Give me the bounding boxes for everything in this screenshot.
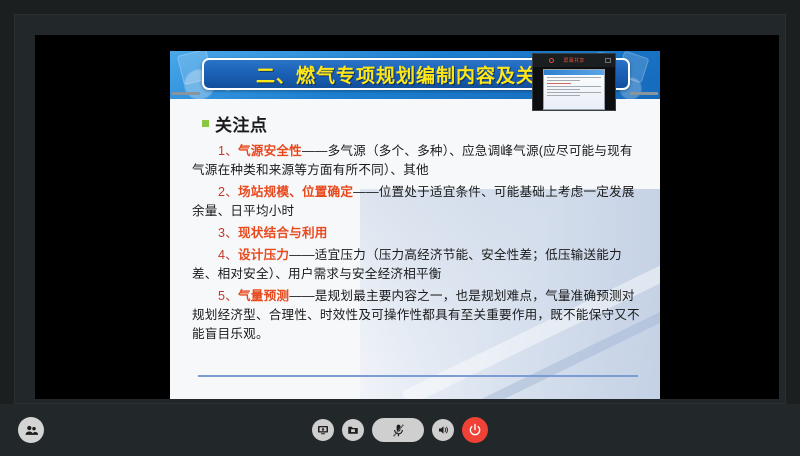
item-number: 1、 — [218, 144, 238, 158]
documents-button[interactable] — [342, 419, 364, 441]
slide-item: 2、场站规模、位置确定——位置处于适宜条件、可能基础上考虑一定发展余量、日平均小… — [192, 183, 642, 221]
speaker-button[interactable] — [432, 419, 454, 441]
video-conference-window: 二、燃气专项规划编制内容及关注点 关注点 1、气源安全性——多气源（多个、多种）… — [0, 0, 800, 456]
slide-item: 3、现状结合与利用 — [192, 224, 642, 243]
item-number: 3、 — [218, 226, 238, 240]
pip-text-line — [547, 95, 580, 97]
leave-button[interactable] — [462, 417, 488, 443]
item-dash: —— — [302, 144, 328, 158]
pip-document-preview — [543, 69, 605, 110]
participants-button[interactable] — [18, 417, 44, 443]
primary-controls — [312, 417, 488, 443]
stage-frame: 二、燃气专项规划编制内容及关注点 关注点 1、气源安全性——多气源（多个、多种）… — [14, 14, 786, 404]
power-icon — [468, 423, 482, 437]
pip-text-line — [547, 83, 571, 85]
item-keyword: 现状结合与利用 — [238, 226, 328, 240]
header-rule-right — [630, 92, 658, 95]
pip-titlebar: 屏幕共享 — [533, 54, 615, 67]
slide-item: 5、气量预测——是规划最主要内容之一，也是规划难点，气量准确预测对规划经济型、合… — [192, 287, 642, 344]
item-dash: —— — [353, 185, 379, 199]
pip-text-line — [547, 77, 601, 79]
slide-item: 1、气源安全性——多气源（多个、多种）、应急调峰气源(应尽可能与现有气源在种类和… — [192, 142, 642, 180]
microphone-button[interactable] — [372, 418, 424, 442]
item-keyword: 设计压力 — [238, 248, 289, 262]
pip-text-line — [547, 89, 580, 91]
pip-stage — [533, 67, 615, 111]
pip-restore-icon[interactable] — [605, 58, 611, 63]
square-bullet-icon — [202, 120, 209, 127]
folder-icon — [347, 424, 359, 436]
item-keyword: 场站规模、位置确定 — [238, 185, 353, 199]
slide-title: 二、燃气专项规划编制内容及关注点 — [256, 61, 576, 88]
item-number: 4、 — [218, 248, 238, 262]
record-dot-icon — [549, 58, 554, 63]
pip-title: 屏幕共享 — [563, 57, 584, 64]
header-rule-left — [172, 92, 200, 95]
people-icon — [24, 423, 39, 438]
meeting-control-bar — [0, 404, 800, 456]
video-canvas[interactable]: 二、燃气专项规划编制内容及关注点 关注点 1、气源安全性——多气源（多个、多种）… — [35, 35, 779, 399]
item-number: 5、 — [218, 289, 238, 303]
slide-item: 4、设计压力——适宜压力（压力高经济节能、安全性差；低压输送能力差、相对安全）、… — [192, 246, 642, 284]
pip-text-line — [547, 86, 601, 88]
pip-doc-header — [544, 70, 604, 75]
section-heading-row: 关注点 — [202, 111, 642, 136]
item-dash: —— — [289, 248, 315, 262]
microphone-muted-icon — [391, 423, 406, 438]
pip-text-line — [547, 92, 601, 94]
monitor-share-icon — [317, 424, 329, 436]
item-keyword: 气源安全性 — [238, 144, 302, 158]
item-dash: —— — [289, 289, 315, 303]
speaker-icon — [437, 424, 449, 436]
section-heading: 关注点 — [215, 111, 268, 136]
picture-in-picture-thumbnail[interactable]: 屏幕共享 — [532, 53, 616, 111]
pip-text-line — [547, 80, 580, 82]
slide-footer-rule — [198, 375, 638, 377]
item-number: 2、 — [218, 185, 238, 199]
item-keyword: 气量预测 — [238, 289, 289, 303]
share-screen-button[interactable] — [312, 419, 334, 441]
slide-body: 关注点 1、气源安全性——多气源（多个、多种）、应急调峰气源(应尽可能与现有气源… — [170, 99, 660, 399]
